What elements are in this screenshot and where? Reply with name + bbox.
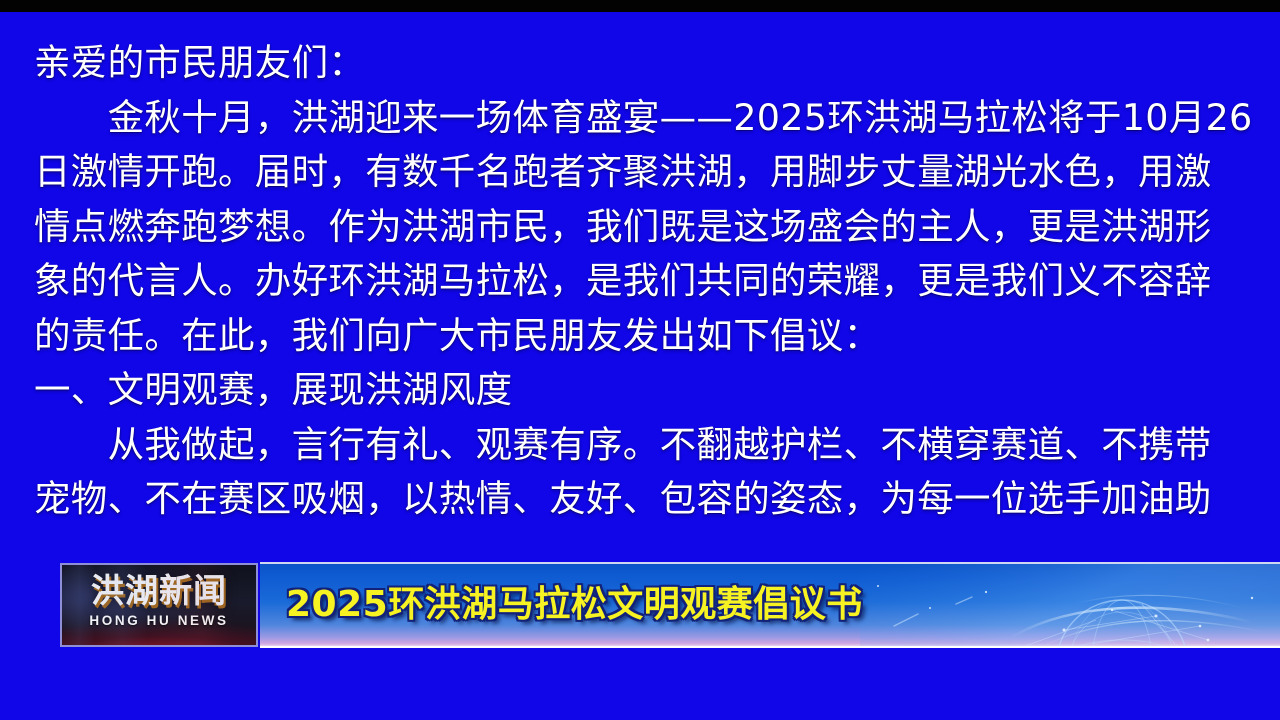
body-line: 一、文明观赛，展现洪湖风度	[0, 363, 1280, 418]
lower-third-banner: 洪湖新闻 HONG HU NEWS	[0, 560, 1280, 650]
body-line: 宠物、不在赛区吸烟，以热情、友好、包容的姿态，为每一位选手加油助	[0, 472, 1280, 527]
globe-network-icon	[860, 564, 1280, 648]
body-line: 象的代言人。办好环洪湖马拉松，是我们共同的荣耀，更是我们义不容辞	[0, 254, 1280, 309]
broadcast-screen: 亲爱的市民朋友们： 金秋十月，洪湖迎来一场体育盛宴——2025环洪湖马拉松将于1…	[0, 0, 1280, 720]
letterbox-bar-top	[0, 0, 1280, 12]
banner-title-text: 2025环洪湖马拉松文明观赛倡议书	[286, 580, 863, 630]
body-line: 从我做起，言行有礼、观赛有序。不翻越护栏、不横穿赛道、不携带	[0, 418, 1280, 473]
body-line: 的责任。在此，我们向广大市民朋友发出如下倡议：	[0, 309, 1280, 364]
body-line: 亲爱的市民朋友们：	[0, 36, 1280, 91]
body-line: 情点燃奔跑梦想。作为洪湖市民，我们既是这场盛会的主人，更是洪湖形	[0, 200, 1280, 255]
channel-logo-plate: 洪湖新闻 HONG HU NEWS	[60, 563, 258, 647]
body-line: 金秋十月，洪湖迎来一场体育盛宴——2025环洪湖马拉松将于10月26	[0, 91, 1280, 146]
channel-logo-chinese-text: 洪湖新闻	[62, 572, 256, 609]
article-body: 亲爱的市民朋友们： 金秋十月，洪湖迎来一场体育盛宴——2025环洪湖马拉松将于1…	[0, 36, 1280, 527]
channel-logo-english-text: HONG HU NEWS	[62, 613, 256, 629]
body-line: 日激情开跑。届时，有数千名跑者齐聚洪湖，用脚步丈量湖光水色，用激	[0, 145, 1280, 200]
banner-title-strip: 2025环洪湖马拉松文明观赛倡议书	[260, 562, 1280, 648]
